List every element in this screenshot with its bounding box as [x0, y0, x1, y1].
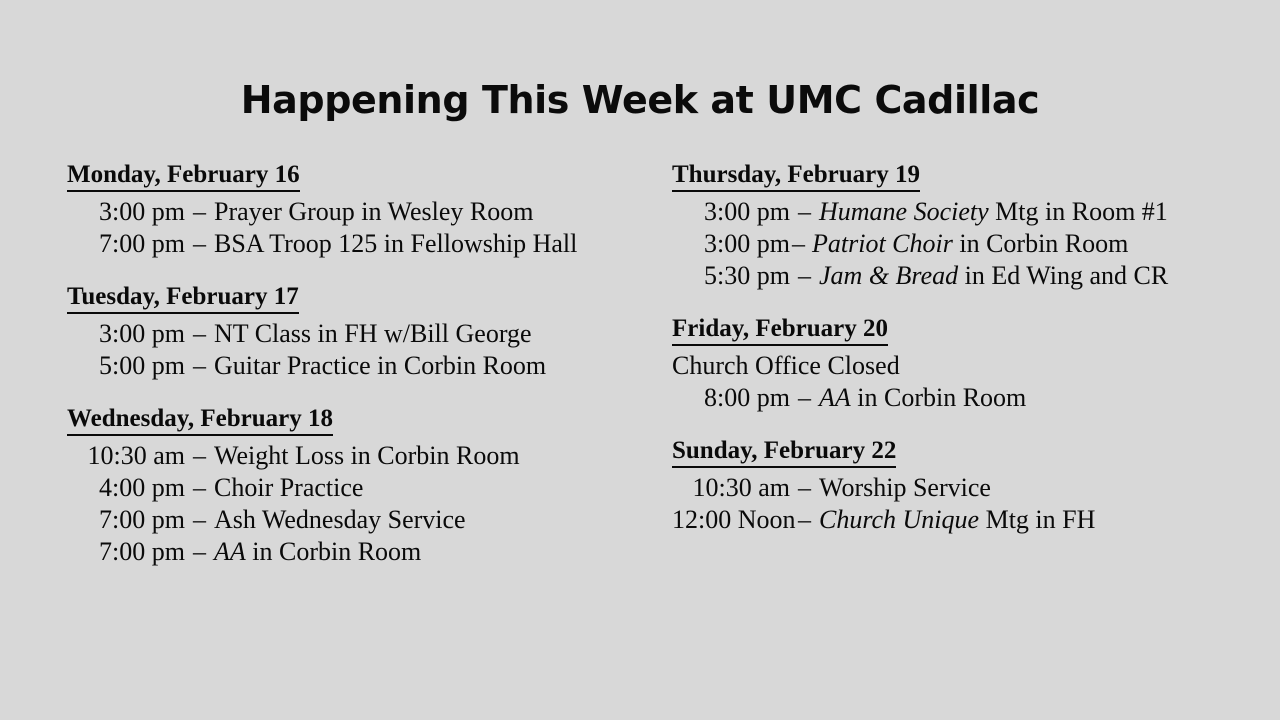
entry-dash: –: [790, 260, 811, 292]
day-heading: Sunday, February 22: [672, 436, 896, 468]
entry-title-italic: Jam & Bread: [819, 261, 958, 290]
entry-description: Choir Practice: [206, 472, 363, 504]
entry-dash: –: [185, 350, 206, 382]
schedule-entry: 8:00 pm–AA in Corbin Room: [672, 382, 1272, 414]
entry-description: Weight Loss in Corbin Room: [206, 440, 520, 472]
entry-location: in Corbin Room: [959, 229, 1128, 258]
day-heading: Thursday, February 19: [672, 160, 920, 192]
entry-location: in Ed Wing and CR: [965, 261, 1169, 290]
day-block: Tuesday, February 173:00 pm–NT Class in …: [67, 282, 657, 382]
day-block: Monday, February 163:00 pm–Prayer Group …: [67, 160, 657, 260]
entry-time: 3:00 pm: [67, 196, 185, 228]
schedule-entry: 7:00 pm–BSA Troop 125 in Fellowship Hall: [67, 228, 657, 260]
entry-dash: –: [790, 382, 811, 414]
entry-time: 7:00 pm: [67, 504, 185, 536]
entry-dash: –: [185, 472, 206, 504]
schedule-entry: 7:00 pm–Ash Wednesday Service: [67, 504, 657, 536]
day-heading: Wednesday, February 18: [67, 404, 333, 436]
entry-location: in Corbin Room: [857, 383, 1026, 412]
entry-time: 10:30 am: [67, 440, 185, 472]
entry-time: 3:00 pm: [672, 196, 790, 228]
schedule-entry: 3:00 pm–Patriot Choir in Corbin Room: [672, 228, 1272, 260]
page-title: Happening This Week at UMC Cadillac: [0, 78, 1280, 122]
entry-description: Church Unique Mtg in FH: [811, 504, 1095, 536]
entry-description: Prayer Group in Wesley Room: [206, 196, 534, 228]
entry-location: in Corbin Room: [252, 537, 421, 566]
entry-time: 3:00 pm: [67, 318, 185, 350]
entry-dash: –: [185, 440, 206, 472]
entry-title-italic: Patriot Choir: [812, 229, 953, 258]
right-column: Thursday, February 193:00 pm–Humane Soci…: [672, 160, 1272, 558]
schedule-entry: 7:00 pm–AA in Corbin Room: [67, 536, 657, 568]
schedule-entry: 3:00 pm–Prayer Group in Wesley Room: [67, 196, 657, 228]
entry-dash: –: [185, 504, 206, 536]
entry-dash: –: [185, 536, 206, 568]
entry-dash: –: [790, 472, 811, 504]
entry-title: BSA Troop 125 in Fellowship Hall: [214, 229, 577, 258]
entry-title-italic: AA: [819, 383, 851, 412]
entry-time: 4:00 pm: [67, 472, 185, 504]
entry-description: Jam & Bread in Ed Wing and CR: [811, 260, 1168, 292]
entry-time: 10:30 am: [672, 472, 790, 504]
entry-description: Guitar Practice in Corbin Room: [206, 350, 546, 382]
entry-dash: –: [790, 504, 811, 536]
day-block: Friday, February 20Church Office Closed8…: [672, 314, 1272, 414]
entry-title: Weight Loss in Corbin Room: [214, 441, 520, 470]
entry-time: 3:00 pm: [672, 228, 790, 260]
entry-time: 7:00 pm: [67, 536, 185, 568]
entry-title: NT Class in FH w/Bill George: [214, 319, 532, 348]
day-heading: Tuesday, February 17: [67, 282, 299, 314]
schedule-entry: 5:00 pm–Guitar Practice in Corbin Room: [67, 350, 657, 382]
schedule-entry: 4:00 pm–Choir Practice: [67, 472, 657, 504]
schedule-entry: 10:30 am–Worship Service: [672, 472, 1272, 504]
entry-time: 12:00 Noon: [672, 504, 790, 536]
entry-time: 7:00 pm: [67, 228, 185, 260]
entry-time: 8:00 pm: [672, 382, 790, 414]
entry-title: Ash Wednesday Service: [214, 505, 466, 534]
schedule-entry: 3:00 pm–NT Class in FH w/Bill George: [67, 318, 657, 350]
entry-description: NT Class in FH w/Bill George: [206, 318, 532, 350]
entry-time: 5:30 pm: [672, 260, 790, 292]
announcement-slide: Happening This Week at UMC Cadillac Mond…: [0, 0, 1280, 720]
entry-title: Choir Practice: [214, 473, 363, 502]
entry-title: Prayer Group in Wesley Room: [214, 197, 534, 226]
entry-dash: –: [790, 228, 805, 260]
day-heading: Friday, February 20: [672, 314, 888, 346]
entry-description: Humane Society Mtg in Room #1: [811, 196, 1168, 228]
entry-dash: –: [790, 196, 811, 228]
entry-description: Ash Wednesday Service: [206, 504, 466, 536]
entry-title: Guitar Practice in Corbin Room: [214, 351, 546, 380]
day-block: Sunday, February 2210:30 am–Worship Serv…: [672, 436, 1272, 536]
entry-description: AA in Corbin Room: [811, 382, 1026, 414]
schedule-entry: 5:30 pm–Jam & Bread in Ed Wing and CR: [672, 260, 1272, 292]
entry-location: Mtg in Room #1: [995, 197, 1168, 226]
day-block: Thursday, February 193:00 pm–Humane Soci…: [672, 160, 1272, 292]
entry-dash: –: [185, 196, 206, 228]
left-column: Monday, February 163:00 pm–Prayer Group …: [67, 160, 657, 590]
entry-description: BSA Troop 125 in Fellowship Hall: [206, 228, 577, 260]
entry-time: 5:00 pm: [67, 350, 185, 382]
entry-title: Worship Service: [819, 473, 991, 502]
entry-title-italic: Humane Society: [819, 197, 989, 226]
entry-dash: –: [185, 228, 206, 260]
schedule-entry: 12:00 Noon–Church Unique Mtg in FH: [672, 504, 1272, 536]
schedule-entry: Church Office Closed: [672, 350, 1272, 382]
entry-title-italic: AA: [214, 537, 246, 566]
entry-note: Church Office Closed: [672, 351, 900, 380]
entry-dash: –: [185, 318, 206, 350]
schedule-entry: 10:30 am–Weight Loss in Corbin Room: [67, 440, 657, 472]
entry-description: Worship Service: [811, 472, 991, 504]
entry-location: Mtg in FH: [986, 505, 1096, 534]
entry-title-italic: Church Unique: [819, 505, 979, 534]
entry-description: Patriot Choir in Corbin Room: [805, 228, 1128, 260]
day-block: Wednesday, February 1810:30 am–Weight Lo…: [67, 404, 657, 568]
schedule-entry: 3:00 pm–Humane Society Mtg in Room #1: [672, 196, 1272, 228]
day-heading: Monday, February 16: [67, 160, 300, 192]
entry-description: AA in Corbin Room: [206, 536, 421, 568]
